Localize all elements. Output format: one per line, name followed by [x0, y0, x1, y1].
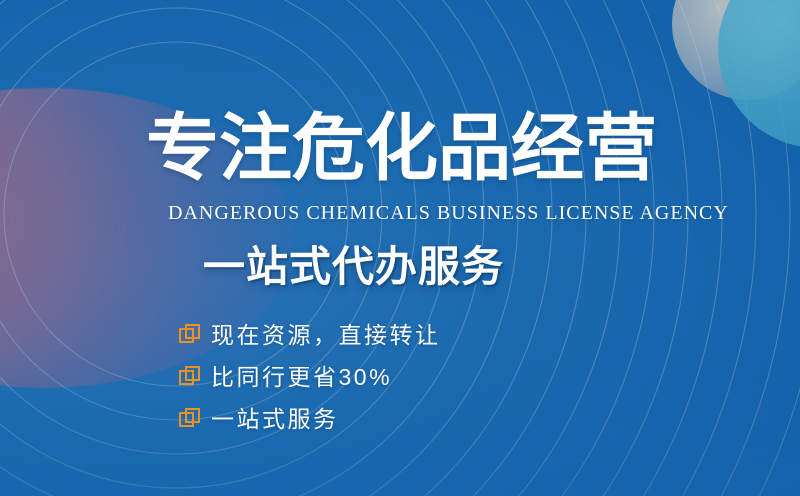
service-subtitle: 一站式代办服务	[203, 246, 504, 288]
list-item: 现在资源，直接转让	[179, 316, 441, 354]
list-item: 比同行更省30%	[179, 358, 441, 396]
english-subtitle: DANGEROUS CHEMICALS BUSINESS LICENSE AGE…	[168, 203, 729, 223]
main-headline: 专注危化品经营	[146, 112, 657, 185]
list-item-label: 一站式服务	[211, 408, 339, 431]
overlapping-squares-icon	[179, 366, 201, 388]
list-item: 一站式服务	[179, 400, 441, 438]
overlapping-squares-icon	[179, 324, 201, 346]
list-item-label: 现在资源，直接转让	[211, 324, 441, 347]
banner-content: 专注危化品经营 DANGEROUS CHEMICALS BUSINESS LIC…	[0, 0, 800, 496]
promo-banner: 专注危化品经营 DANGEROUS CHEMICALS BUSINESS LIC…	[0, 0, 800, 496]
overlapping-squares-icon	[179, 408, 201, 430]
feature-list: 现在资源，直接转让 比同行更省30% 一站式服务	[179, 316, 441, 442]
list-item-label: 比同行更省30%	[211, 366, 392, 389]
